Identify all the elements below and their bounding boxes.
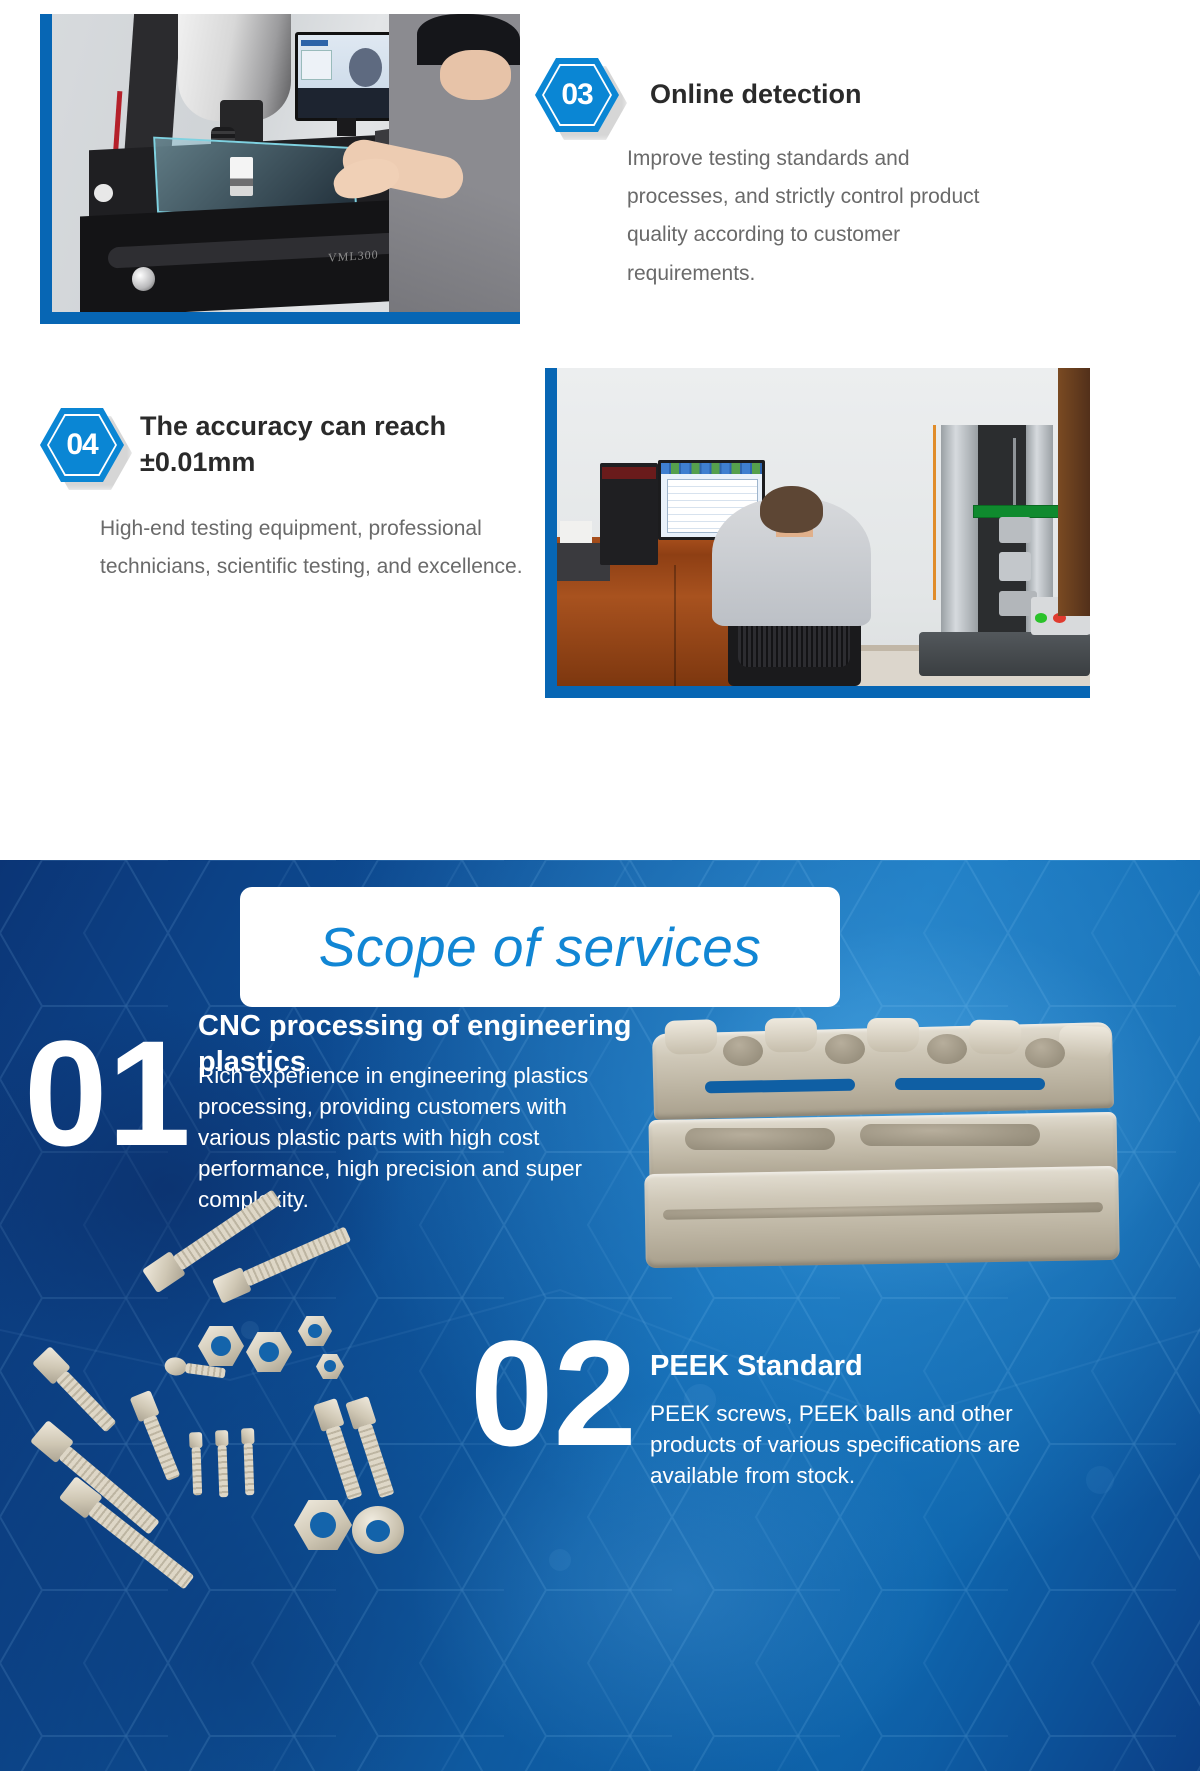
screw-head (163, 1356, 187, 1377)
block-03-body: Improve testing standards and processes,… (627, 140, 1007, 293)
chain-slot (895, 1078, 1045, 1090)
desk-seam (674, 565, 676, 686)
machine-orange-strip (933, 425, 936, 600)
photo-image (557, 368, 1090, 686)
machine-crosshead (973, 505, 1071, 518)
nut-hole (324, 1360, 336, 1372)
screw-shaft (192, 1447, 203, 1495)
block-04-title: The accuracy can reach ±0.01mm (140, 408, 540, 481)
bolt-shaft (357, 1423, 394, 1498)
wooden-door (1058, 368, 1090, 616)
machine-base (919, 632, 1090, 677)
middle-grip (999, 552, 1031, 581)
hexagon-number: 03 (535, 58, 619, 132)
chain-notch (927, 1034, 967, 1064)
nut-hole (308, 1324, 322, 1338)
service-02-title: PEEK Standard (650, 1348, 1090, 1384)
adjust-knob (132, 267, 155, 291)
washer-hole (366, 1520, 390, 1542)
top-detection-section: VML300 03 Online detection Improve testi… (0, 0, 1200, 860)
service-number-02: 02 (470, 1322, 637, 1465)
bolt-shaft (325, 1425, 362, 1500)
software-toolbar (661, 463, 762, 473)
measured-part (230, 157, 253, 196)
machine-rod (1013, 438, 1016, 508)
service-02-body: PEEK screws, PEEK balls and other produc… (650, 1398, 1070, 1491)
screw-head (189, 1432, 203, 1448)
screw-shaft (244, 1443, 255, 1495)
bolt-shaft (143, 1415, 181, 1481)
chain-tooth (969, 1020, 1022, 1055)
nut-hole (211, 1336, 231, 1356)
software-lower-panel (298, 88, 395, 118)
photo-tensile-testing-machine (545, 368, 1090, 698)
operator-face (440, 50, 510, 101)
peek-chain-part-image (645, 1020, 1115, 1280)
monitor-stand (337, 118, 356, 136)
screw-head (215, 1430, 229, 1446)
chain-rib (860, 1124, 1040, 1146)
focus-knob (94, 184, 113, 202)
scope-title-text: Scope of services (319, 915, 762, 979)
chain-tooth (664, 1019, 717, 1055)
chain-notch (825, 1034, 865, 1064)
hexagon-badge-03: 03 (535, 58, 619, 132)
scope-title-card: Scope of services (240, 887, 840, 1007)
machine-left-column (941, 425, 978, 654)
upper-grip (999, 517, 1031, 542)
photo-optical-measuring-machine: VML300 (40, 14, 520, 324)
measured-circle (349, 48, 382, 86)
software-panel (301, 50, 332, 80)
nut-hole (310, 1512, 336, 1538)
chain-notch (1025, 1038, 1065, 1068)
service-01-body: Rich experience in engineering plastics … (198, 1060, 618, 1215)
monitor-screen (298, 35, 395, 118)
operator-head (760, 486, 824, 534)
chain-tooth (867, 1018, 919, 1052)
chain-tooth (765, 1018, 818, 1053)
pc-tower-panel (602, 467, 655, 480)
block-03-title: Online detection (650, 76, 1150, 112)
service-number-01: 01 (24, 1022, 191, 1165)
peek-screws-image (30, 1270, 450, 1580)
screw-head (241, 1428, 255, 1444)
hexagon-number: 04 (40, 408, 124, 482)
nut-hole (259, 1342, 279, 1362)
screw-shaft (218, 1445, 229, 1497)
photo-image: VML300 (52, 14, 520, 312)
software-toolbar (301, 40, 328, 46)
chain-rib (685, 1128, 835, 1150)
chain-tooth (1058, 1025, 1111, 1061)
scope-of-services-section: Scope of services 01 CNC processing of e… (0, 860, 1200, 1771)
hexagon-badge-04: 04 (40, 408, 124, 482)
block-04-body: High-end testing equipment, professional… (100, 510, 540, 586)
chain-notch (723, 1036, 763, 1066)
bolt-shaft (56, 1370, 117, 1432)
measurement-monitor (295, 32, 398, 121)
